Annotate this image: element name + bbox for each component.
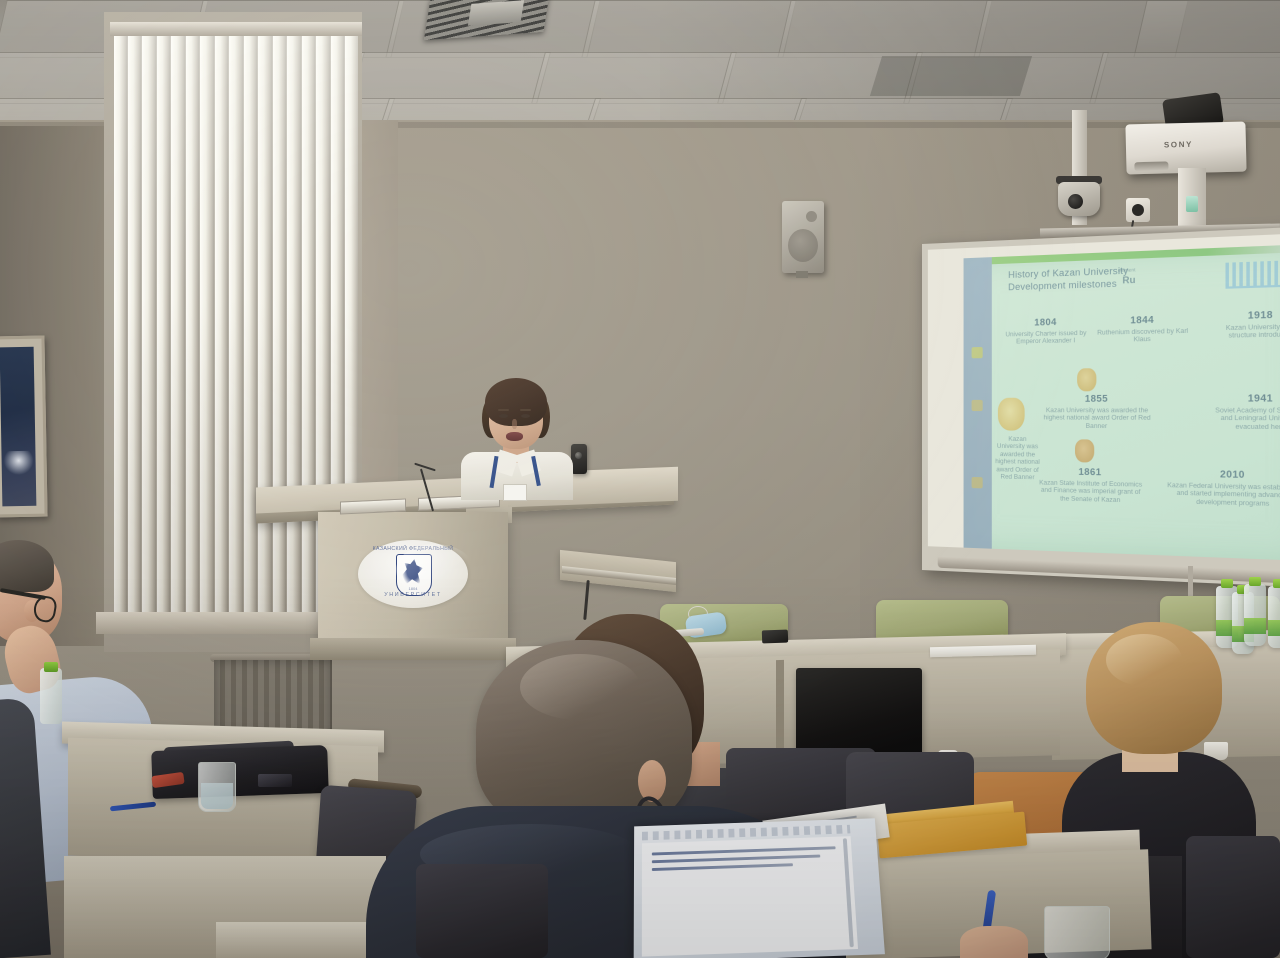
picture-artwork — [0, 347, 36, 507]
ru-element-caption: element — [1118, 267, 1136, 273]
foreground-left-chair[interactable] — [416, 864, 548, 958]
presenter-mouth — [506, 432, 523, 441]
socket-plug-icon — [1132, 204, 1144, 216]
conference-badge — [503, 484, 527, 501]
wall-speaker — [782, 201, 824, 273]
water-bottle-3[interactable] — [1268, 586, 1280, 648]
event-description: Kazan University was awarded the highest… — [994, 436, 1041, 482]
interactive-whiteboard[interactable]: History of Kazan University Development … — [922, 226, 1280, 587]
event-year: 1861 — [1037, 466, 1144, 478]
plastic-water-cup[interactable] — [198, 762, 236, 812]
speaker-tweeter-icon — [806, 211, 817, 222]
foreground-man-hair-highlight — [520, 654, 640, 720]
projector-lens-icon — [1134, 161, 1168, 171]
timeline-event-1844: 1844 Ruthenium discovered by Karl Klaus — [1090, 313, 1196, 345]
closed-laptop-under-desk[interactable] — [796, 668, 922, 760]
left-man-water-bottle[interactable] — [40, 668, 62, 724]
ru-element-symbol: Ru — [1122, 275, 1135, 286]
document-text-line — [652, 855, 820, 864]
camera-lens-icon — [1068, 194, 1083, 209]
event-year: 1804 — [1000, 316, 1092, 328]
timeline-event-1861: 1861 Kazan State Institute of Economics … — [1037, 466, 1144, 505]
timeline-event-2010: 2010 Kazan Federal University was establ… — [1167, 468, 1280, 509]
slide-app-sidebar — [964, 257, 992, 551]
desk-panel-gap — [776, 660, 784, 760]
podium-base — [310, 638, 516, 660]
sidebar-icon-2 — [972, 400, 983, 411]
glass-foreground[interactable] — [1044, 906, 1110, 958]
slide-top-bar — [992, 244, 1280, 264]
foreground-open-laptop[interactable] — [634, 818, 885, 958]
projector-brand-label: SONY — [1164, 140, 1193, 150]
event-year: 1918 — [1212, 308, 1280, 321]
picture-highlight — [3, 451, 33, 476]
slide-decoration-bars — [1225, 258, 1280, 286]
phone-on-left-desk[interactable] — [258, 774, 292, 787]
audio-recorder[interactable] — [571, 444, 587, 474]
sidebar-icon-3 — [972, 477, 983, 488]
medal-icon-1879 — [998, 398, 1025, 431]
power-socket[interactable] — [1126, 198, 1150, 222]
recorder-button-icon[interactable] — [575, 452, 582, 459]
laptop-document[interactable] — [642, 836, 858, 956]
event-year: 1855 — [1041, 393, 1153, 404]
whiteboard-surface[interactable]: History of Kazan University Development … — [928, 233, 1280, 561]
timeline-event-1918: 1918 Kazan University new structure intr… — [1212, 308, 1280, 341]
blind-headrail[interactable] — [110, 22, 362, 36]
foreground-hand — [960, 926, 1028, 958]
bottle-label — [1268, 620, 1280, 636]
event-description: Ruthenium discovered by Karl Klaus — [1090, 327, 1196, 345]
event-description: Soviet Academy of Sciences and Leningrad… — [1209, 407, 1280, 432]
event-year: 2010 — [1167, 468, 1280, 481]
bottle-cap-icon — [1221, 579, 1233, 588]
event-description: Kazan University was awarded the highest… — [1041, 407, 1153, 431]
event-description: Kazan State Institute of Economics and F… — [1037, 479, 1144, 505]
projector-status-led — [1186, 196, 1198, 212]
framed-picture — [0, 336, 48, 518]
sidebar-icon-1 — [972, 347, 983, 358]
event-description: Kazan Federal University was established… — [1167, 482, 1280, 509]
presenter-nose — [512, 419, 517, 429]
speaker-bracket — [796, 271, 808, 278]
timeline-event-1804: 1804 University Charter issued by Empero… — [1000, 316, 1092, 347]
slide-title: History of Kazan University Development … — [1008, 261, 1214, 293]
podium-glare — [396, 544, 474, 596]
event-description: University Charter issued by Emperor Ale… — [1000, 329, 1092, 346]
timeline-event-1941: 1941 Soviet Academy of Sciences and Leni… — [1209, 393, 1280, 432]
right-woman-hair-highlight — [1106, 634, 1182, 686]
presenter-eye-right — [521, 414, 530, 418]
cup-water — [201, 783, 233, 809]
right-dark-chair[interactable] — [1186, 836, 1280, 958]
presenter-eyebrow-right — [520, 409, 531, 411]
projector: SONY — [1125, 122, 1246, 175]
presenter-eye-left — [499, 414, 508, 418]
event-description: Kazan University new structure introduce… — [1212, 323, 1280, 341]
event-year: 1844 — [1090, 313, 1196, 326]
security-camera-icon — [1058, 182, 1100, 216]
water-bottle-2[interactable] — [1244, 584, 1266, 646]
medal-icon-1861 — [1075, 439, 1094, 462]
bottle-cap-icon — [1249, 577, 1261, 586]
timeline-event-1855: 1855 Kazan University was awarded the hi… — [1041, 393, 1153, 430]
speaker-woofer-icon — [788, 229, 818, 262]
projected-slide: History of Kazan University Development … — [964, 244, 1280, 561]
presenter-eyebrow-left — [498, 409, 509, 411]
air-diffuser-center — [468, 0, 524, 26]
bottle-label — [1244, 618, 1266, 634]
left-man-bottle-cap-icon — [44, 662, 58, 672]
bottle-cap-icon — [1273, 579, 1280, 588]
lecture-room-photo: SONY History of Kazan University Develop… — [0, 0, 1280, 958]
timeline-event-side: Kazan University was awarded the highest… — [994, 433, 1041, 482]
medal-icon-1855 — [1077, 368, 1096, 391]
document-text-line — [652, 863, 793, 871]
smartphone-on-desk[interactable] — [762, 630, 788, 644]
event-year: 1941 — [1209, 393, 1280, 404]
